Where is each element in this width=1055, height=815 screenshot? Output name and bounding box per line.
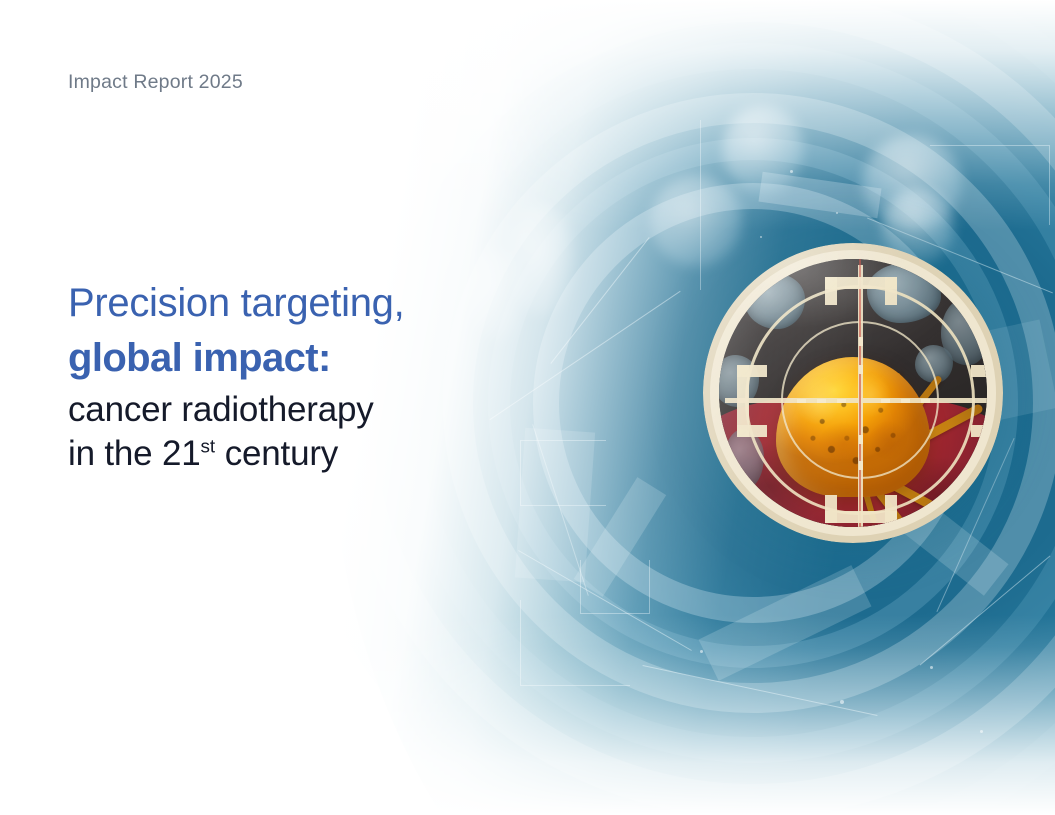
- reticle-crosshair-icon: [719, 259, 987, 527]
- subhead-line-2: in the 21st century: [68, 432, 374, 476]
- reticle-notch: [737, 365, 767, 377]
- reticle-notch: [825, 277, 837, 305]
- report-eyebrow-label: Impact Report 2025: [68, 71, 243, 94]
- reticle-tick: [859, 365, 863, 374]
- reticle-tick: [859, 435, 863, 444]
- reticle-tick: [901, 399, 910, 403]
- subhead-line-2-suffix: century: [215, 434, 338, 473]
- reticle-notch: [885, 277, 897, 305]
- reticle-notch: [737, 425, 767, 437]
- headline-line-1: Precision targeting,: [68, 276, 404, 331]
- medallion-inner: [719, 259, 987, 527]
- targeted-cell-medallion: [703, 243, 1003, 543]
- ordinal-suffix: st: [200, 436, 215, 457]
- reticle-tick: [837, 399, 846, 403]
- cover-headline: Precision targeting, global impact:: [68, 276, 404, 386]
- subhead-line-2-prefix: in the 21: [68, 434, 200, 473]
- reticle-tick: [921, 399, 930, 403]
- reticle-tick: [859, 461, 863, 470]
- subhead-line-1: cancer radiotherapy: [68, 388, 374, 432]
- cover-subhead: cancer radiotherapy in the 21st century: [68, 388, 374, 476]
- reticle-notch: [885, 495, 897, 523]
- medallion-bezel: [703, 243, 1003, 543]
- headline-line-2: global impact:: [68, 331, 404, 386]
- reticle-horizontal-bar: [725, 398, 987, 403]
- reticle-tick: [881, 399, 890, 403]
- reticle-notch: [971, 425, 987, 437]
- reticle-tick: [817, 399, 826, 403]
- reticle-notch: [825, 495, 837, 523]
- reticle-tick: [797, 399, 806, 403]
- reticle-tick: [859, 337, 863, 346]
- reticle-hairline: [859, 259, 861, 527]
- report-cover-page: Impact Report 2025 Precision targeting, …: [0, 0, 1055, 815]
- reticle-notch: [971, 365, 987, 377]
